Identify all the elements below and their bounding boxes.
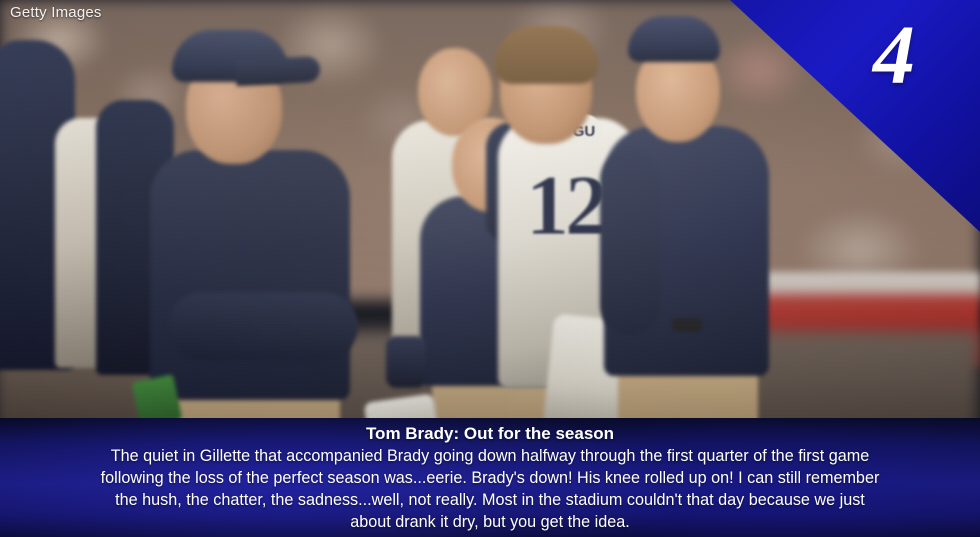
trainer-right-arm: [600, 150, 660, 335]
getty-images-watermark: Getty Images: [10, 4, 102, 21]
caption-line: about drank it dry, but you get the idea…: [14, 511, 966, 533]
caption-overlay: Tom Brady: Out for the season The quiet …: [0, 418, 980, 537]
coach-folded-arms: [168, 292, 358, 360]
brady-hair: [494, 26, 598, 84]
slideshow-frame: 12 GU Getty Images 4 Tom Brady: Out for …: [0, 0, 980, 537]
coach-torso: [150, 150, 350, 400]
brady-jersey-number: 12: [520, 150, 610, 260]
caption-body: The quiet in Gillette that accompanied B…: [14, 445, 966, 533]
caption-line: following the loss of the perfect season…: [14, 467, 966, 489]
slide-number: 4: [834, 14, 954, 98]
trainer-right-watch: [672, 318, 702, 332]
trainer-right-cap: [628, 16, 720, 62]
coach-cap-brim: [235, 56, 320, 86]
caption-title: Tom Brady: Out for the season: [0, 423, 980, 444]
glove: [386, 336, 426, 388]
caption-line: The quiet in Gillette that accompanied B…: [14, 445, 966, 467]
caption-line: the hush, the chatter, the sadness...wel…: [14, 489, 966, 511]
